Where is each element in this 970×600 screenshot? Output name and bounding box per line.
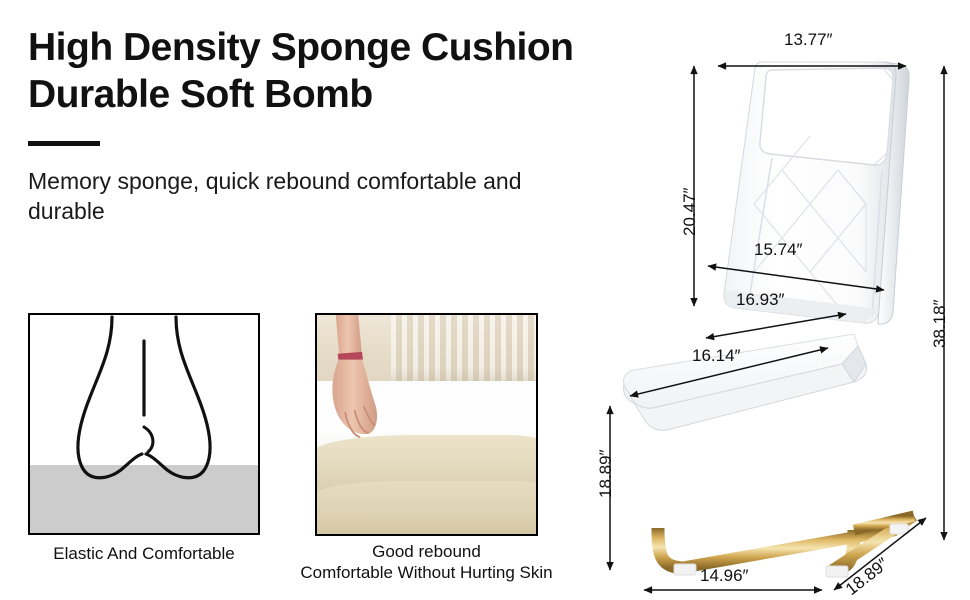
dimlabel-seat-width: 16.14″ bbox=[692, 346, 741, 366]
dimlabel-backrest-height: 20.47″ bbox=[680, 187, 700, 236]
subtitle: Memory sponge, quick rebound comfortable… bbox=[28, 166, 548, 226]
title-divider-rule bbox=[28, 141, 100, 146]
dimlabel-seat-depth: 16.93″ bbox=[736, 290, 785, 310]
floor-glide-rear bbox=[890, 524, 908, 534]
page-title: High Density Sponge Cushion Durable Soft… bbox=[28, 24, 668, 118]
dimlabel-backrest-lower-width: 15.74″ bbox=[754, 240, 803, 260]
gold-cantilever-curve-left bbox=[658, 528, 682, 568]
feature-panel-foam-caption: Good rebound Comfortable Without Hurting… bbox=[280, 541, 573, 583]
dimlabel-backrest-top-width: 13.77″ bbox=[784, 30, 833, 50]
feature-panel-foam bbox=[315, 313, 538, 536]
feature-panel-elastic-caption: Elastic And Comfortable bbox=[28, 543, 260, 564]
infographic-canvas: High Density Sponge Cushion Durable Soft… bbox=[0, 0, 970, 600]
foam-slab-lower bbox=[315, 481, 538, 536]
foam-caption-line2: Comfortable Without Hurting Skin bbox=[280, 562, 573, 583]
foam-caption-line1: Good rebound bbox=[280, 541, 573, 562]
dimlabel-base-width: 14.96″ bbox=[700, 566, 749, 586]
dimline-seat-depth bbox=[706, 314, 846, 338]
dimlabel-total-height: 38.18″ bbox=[930, 299, 950, 348]
seated-body-outline-icon bbox=[30, 315, 258, 533]
feature-panel-elastic bbox=[28, 313, 260, 535]
floor-glide-left bbox=[674, 564, 696, 575]
chair-illustration bbox=[623, 62, 914, 577]
dimlabel-seat-height: 18.89″ bbox=[596, 449, 616, 498]
chair-dimension-diagram: 13.77″ 20.47″ 15.74″ 16.93″ 16.14″ 38.18… bbox=[596, 18, 970, 600]
floor-glide-right bbox=[826, 566, 848, 577]
hand-pressing-icon bbox=[317, 315, 383, 451]
